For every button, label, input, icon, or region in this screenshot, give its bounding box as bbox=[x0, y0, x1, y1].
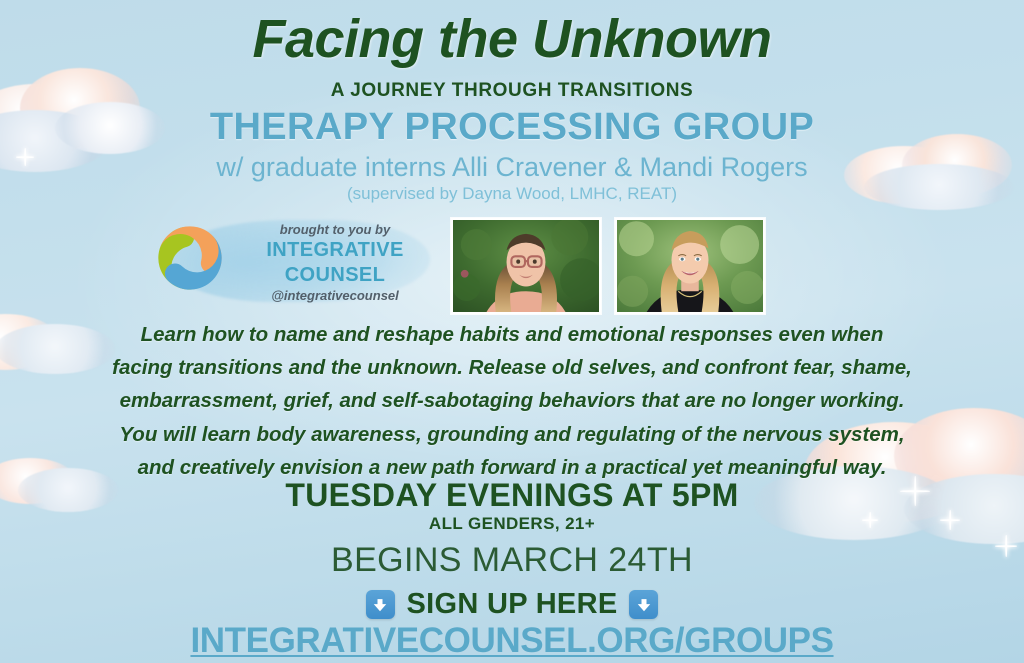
triskelion-swirl-icon bbox=[154, 222, 226, 294]
avatar bbox=[453, 220, 599, 312]
group-heading: THERAPY PROCESSING GROUP bbox=[0, 106, 1024, 149]
signup-url-link[interactable]: INTEGRATIVECOUNSEL.ORG/GROUPS bbox=[0, 621, 1024, 661]
schedule-line: TUESDAY EVENINGS AT 5PM bbox=[0, 477, 1024, 514]
down-arrow-icon bbox=[366, 590, 395, 619]
brand-logo-lockup: brought to you by INTEGRATIVE COUNSEL @i… bbox=[150, 214, 442, 316]
avatar bbox=[617, 220, 763, 312]
poster-canvas: Facing the Unknown A JOURNEY THROUGH TRA… bbox=[0, 0, 1024, 663]
down-arrow-icon bbox=[629, 590, 658, 619]
page-title: Facing the Unknown bbox=[0, 8, 1024, 70]
start-date-line: BEGINS MARCH 24TH bbox=[0, 541, 1024, 580]
portrait-alli-cravener bbox=[451, 218, 601, 314]
logo-brought-by-label: brought to you by bbox=[230, 222, 440, 238]
signup-row: SIGN UP HERE bbox=[0, 588, 1024, 621]
signup-label: SIGN UP HERE bbox=[407, 588, 618, 621]
interns-line: w/ graduate interns Alli Cravener & Mand… bbox=[0, 152, 1024, 183]
logo-brand-name: INTEGRATIVE COUNSEL bbox=[230, 238, 440, 288]
logo-social-handle: @integrativecounsel bbox=[230, 288, 440, 304]
audience-line: ALL GENDERS, 21+ bbox=[0, 514, 1024, 534]
tagline: A JOURNEY THROUGH TRANSITIONS bbox=[0, 80, 1024, 102]
supervisor-line: (supervised by Dayna Wood, LMHC, REAT) bbox=[0, 184, 1024, 204]
portrait-mandi-rogers bbox=[615, 218, 765, 314]
description-paragraph: Learn how to name and reshape habits and… bbox=[112, 318, 912, 484]
